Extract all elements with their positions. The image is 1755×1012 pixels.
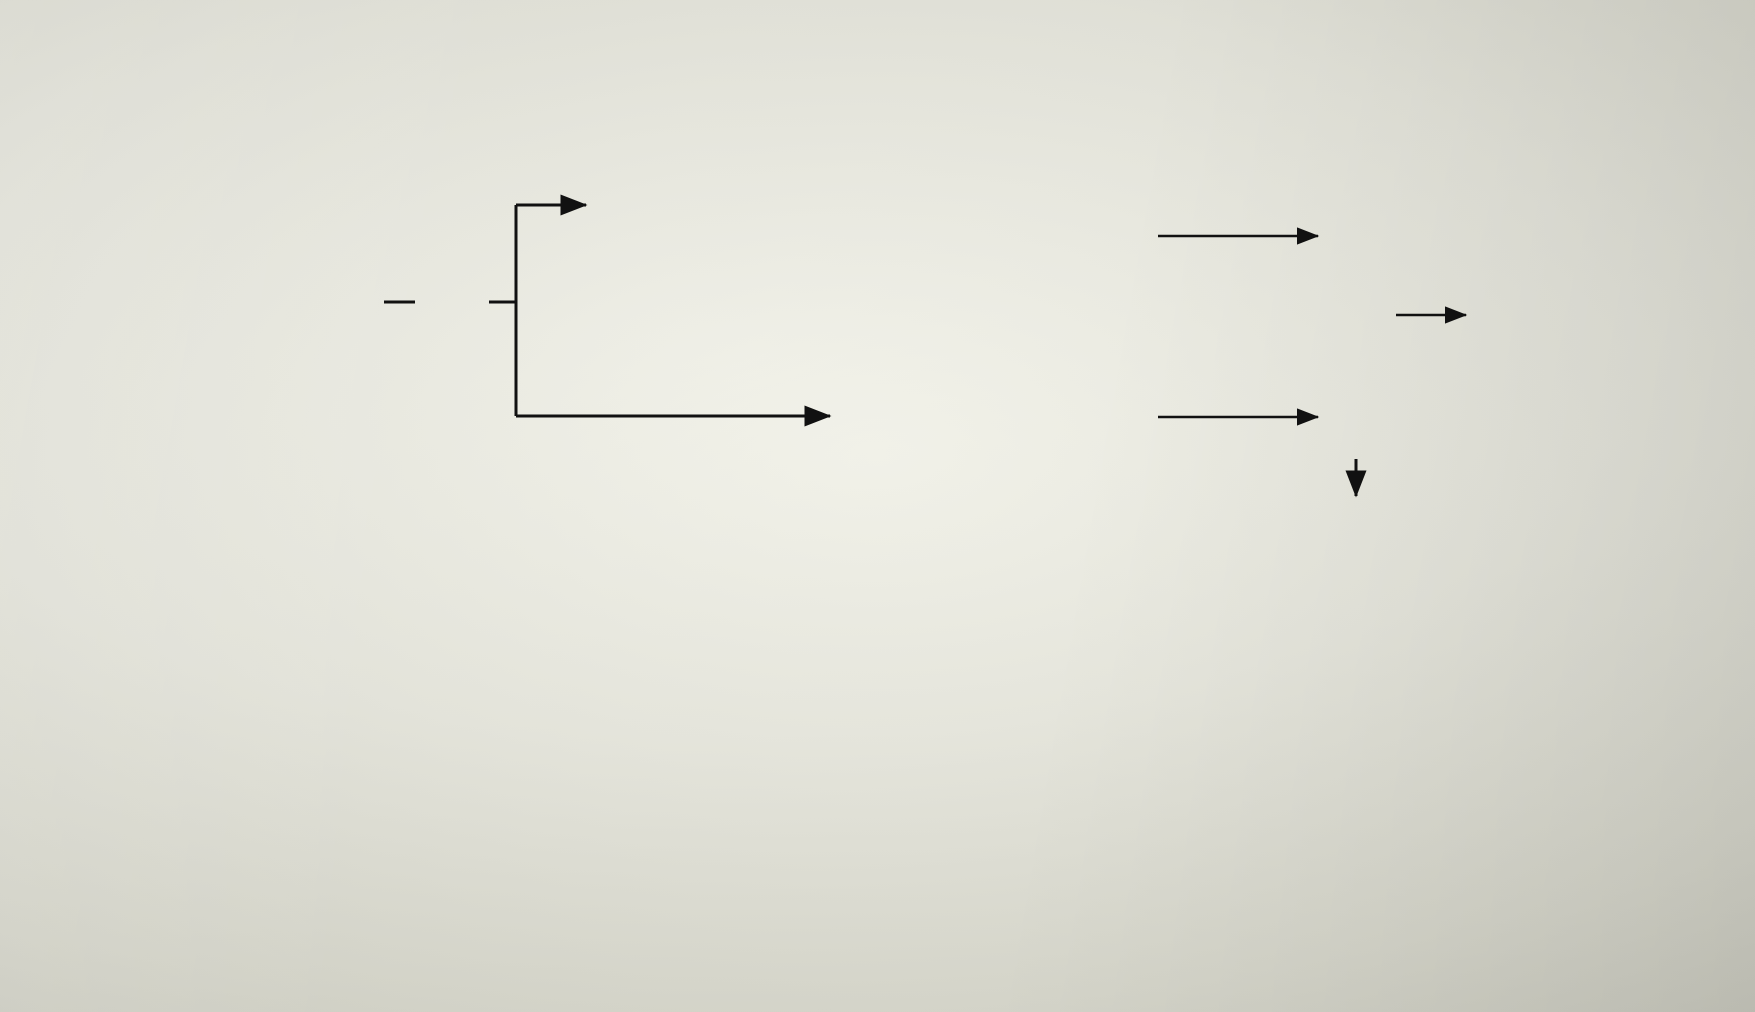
slide-root: CARES-009 study design CARES-009 is a mu…	[0, 0, 1755, 1012]
connector-arrows	[0, 0, 1755, 1012]
